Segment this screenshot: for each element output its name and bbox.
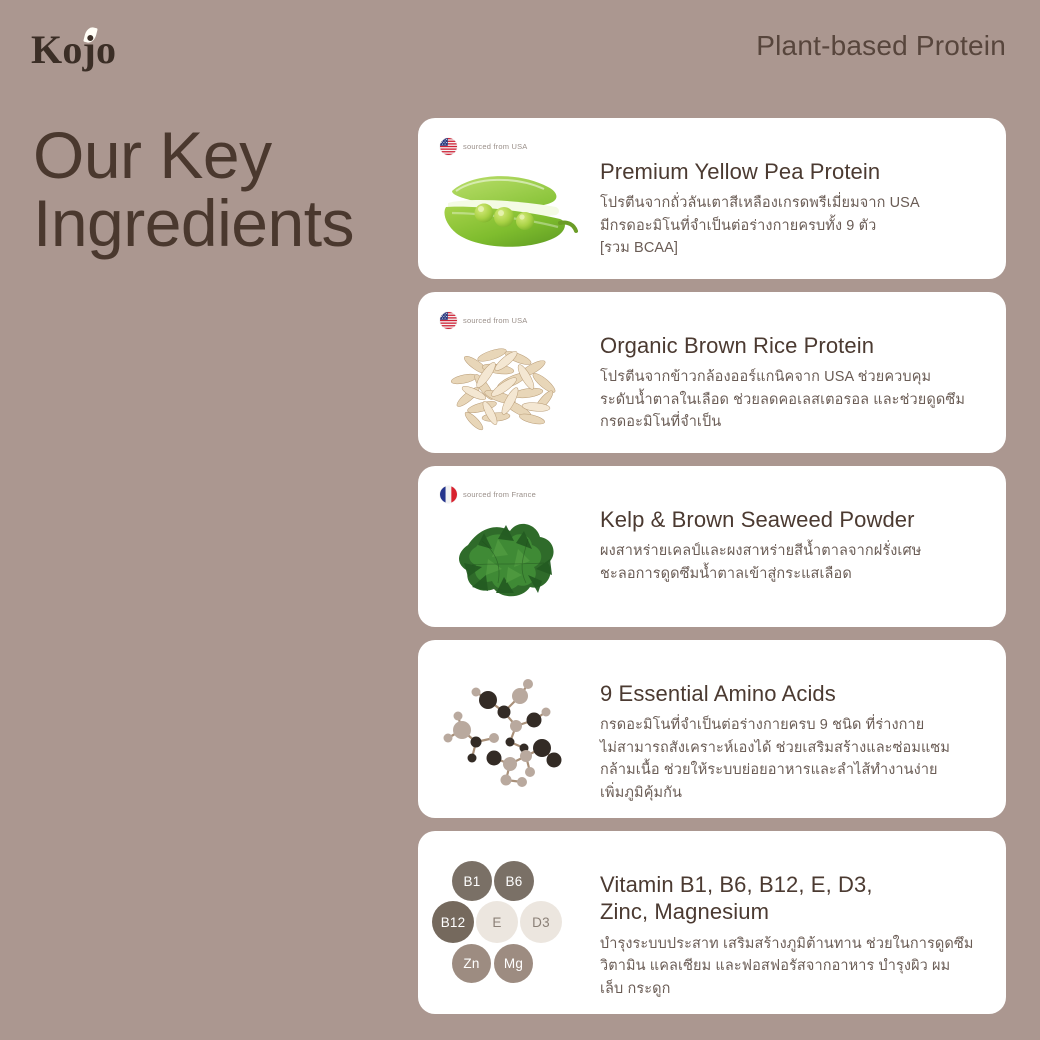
vitamin-bubble-b12: B12 [432,901,474,943]
ingredient-card-vitamins-minerals[interactable]: B1 B6 B12 E D3 Zn Mg Vitamin B1, B6, B12… [418,831,1006,1014]
card-media: B1 B6 B12 E D3 Zn Mg [432,845,600,1000]
ingredient-card-kelp-seaweed-powder[interactable]: sourced from France [418,466,1006,627]
brand-wordmark: Kojo [31,27,116,72]
card-description: กรดอะมิโนที่จำเป็นต่อร่างกายครบ 9 ชนิด ท… [600,714,986,804]
molecule-image [432,672,582,790]
ingredient-card-brown-rice-protein[interactable]: sourced from USA [418,292,1006,453]
header-tagline: Plant-based Protein [756,30,1006,62]
card-title: Kelp & Brown Seaweed Powder [600,506,986,533]
card-title: Vitamin B1, B6, B12, E, D3, Zinc, Magnes… [600,871,986,926]
vitamin-bubble-d3: D3 [520,901,562,943]
sourced-label: sourced from USA [463,142,527,151]
sourced-label: sourced from USA [463,316,527,325]
vitamin-bubble-e: E [476,901,518,943]
card-title: Organic Brown Rice Protein [600,332,986,359]
sourced-badge: sourced from USA [440,138,527,155]
ingredient-card-list: sourced from USA [418,118,1006,1014]
sourced-badge: sourced from France [440,486,536,503]
pea-pod-image [432,157,582,265]
card-body: Premium Yellow Pea Protein โปรตีนจากถั่ว… [600,132,990,265]
usa-flag-icon [440,138,457,155]
sourced-label: sourced from France [463,490,536,499]
vitamin-bubble-mg: Mg [494,944,533,983]
page-title-line-2: Ingredients [33,190,413,258]
vitamin-bubble-b6: B6 [494,861,534,901]
vitamin-bubble-zn: Zn [452,944,491,983]
card-body: 9 Essential Amino Acids กรดอะมิโนที่จำเป… [600,654,990,804]
card-description: บำรุงระบบประสาท เสริมสร้างภูมิต้านทาน ช่… [600,933,986,1000]
card-media: sourced from USA [432,132,600,265]
card-description: โปรตีนจากถั่วลันเตาสีเหลืองเกรดพรีเมี่ยม… [600,192,986,259]
card-body: Organic Brown Rice Protein โปรตีนจากข้าว… [600,306,990,439]
sourced-badge: sourced from USA [440,312,527,329]
vitamin-bubble-b1: B1 [452,861,492,901]
france-flag-icon [440,486,457,503]
card-title: Premium Yellow Pea Protein [600,158,986,185]
seaweed-image [432,505,582,613]
vitamin-bubbles: B1 B6 B12 E D3 Zn Mg [432,859,582,979]
card-title: 9 Essential Amino Acids [600,680,986,707]
card-media: sourced from France [432,480,600,613]
card-media [432,654,600,804]
ingredient-card-yellow-pea-protein[interactable]: sourced from USA [418,118,1006,279]
usa-flag-icon [440,312,457,329]
page-title: Our Key Ingredients [33,122,413,258]
card-body: Kelp & Brown Seaweed Powder ผงสาหร่ายเคล… [600,480,990,613]
card-description: โปรตีนจากข้าวกล้องออร์แกนิคจาก USA ช่วยค… [600,366,986,433]
ingredient-card-essential-amino-acids[interactable]: 9 Essential Amino Acids กรดอะมิโนที่จำเป… [418,640,1006,818]
card-body: Vitamin B1, B6, B12, E, D3, Zinc, Magnes… [600,845,990,1000]
page-title-line-1: Our Key [33,118,272,192]
card-description: ผงสาหร่ายเคลป์และผงสาหร่ายสีน้ำตาลจากฝรั… [600,540,986,585]
brown-rice-image [432,331,582,439]
card-media: sourced from USA [432,306,600,439]
brand-logo[interactable]: Kojo [31,30,116,70]
